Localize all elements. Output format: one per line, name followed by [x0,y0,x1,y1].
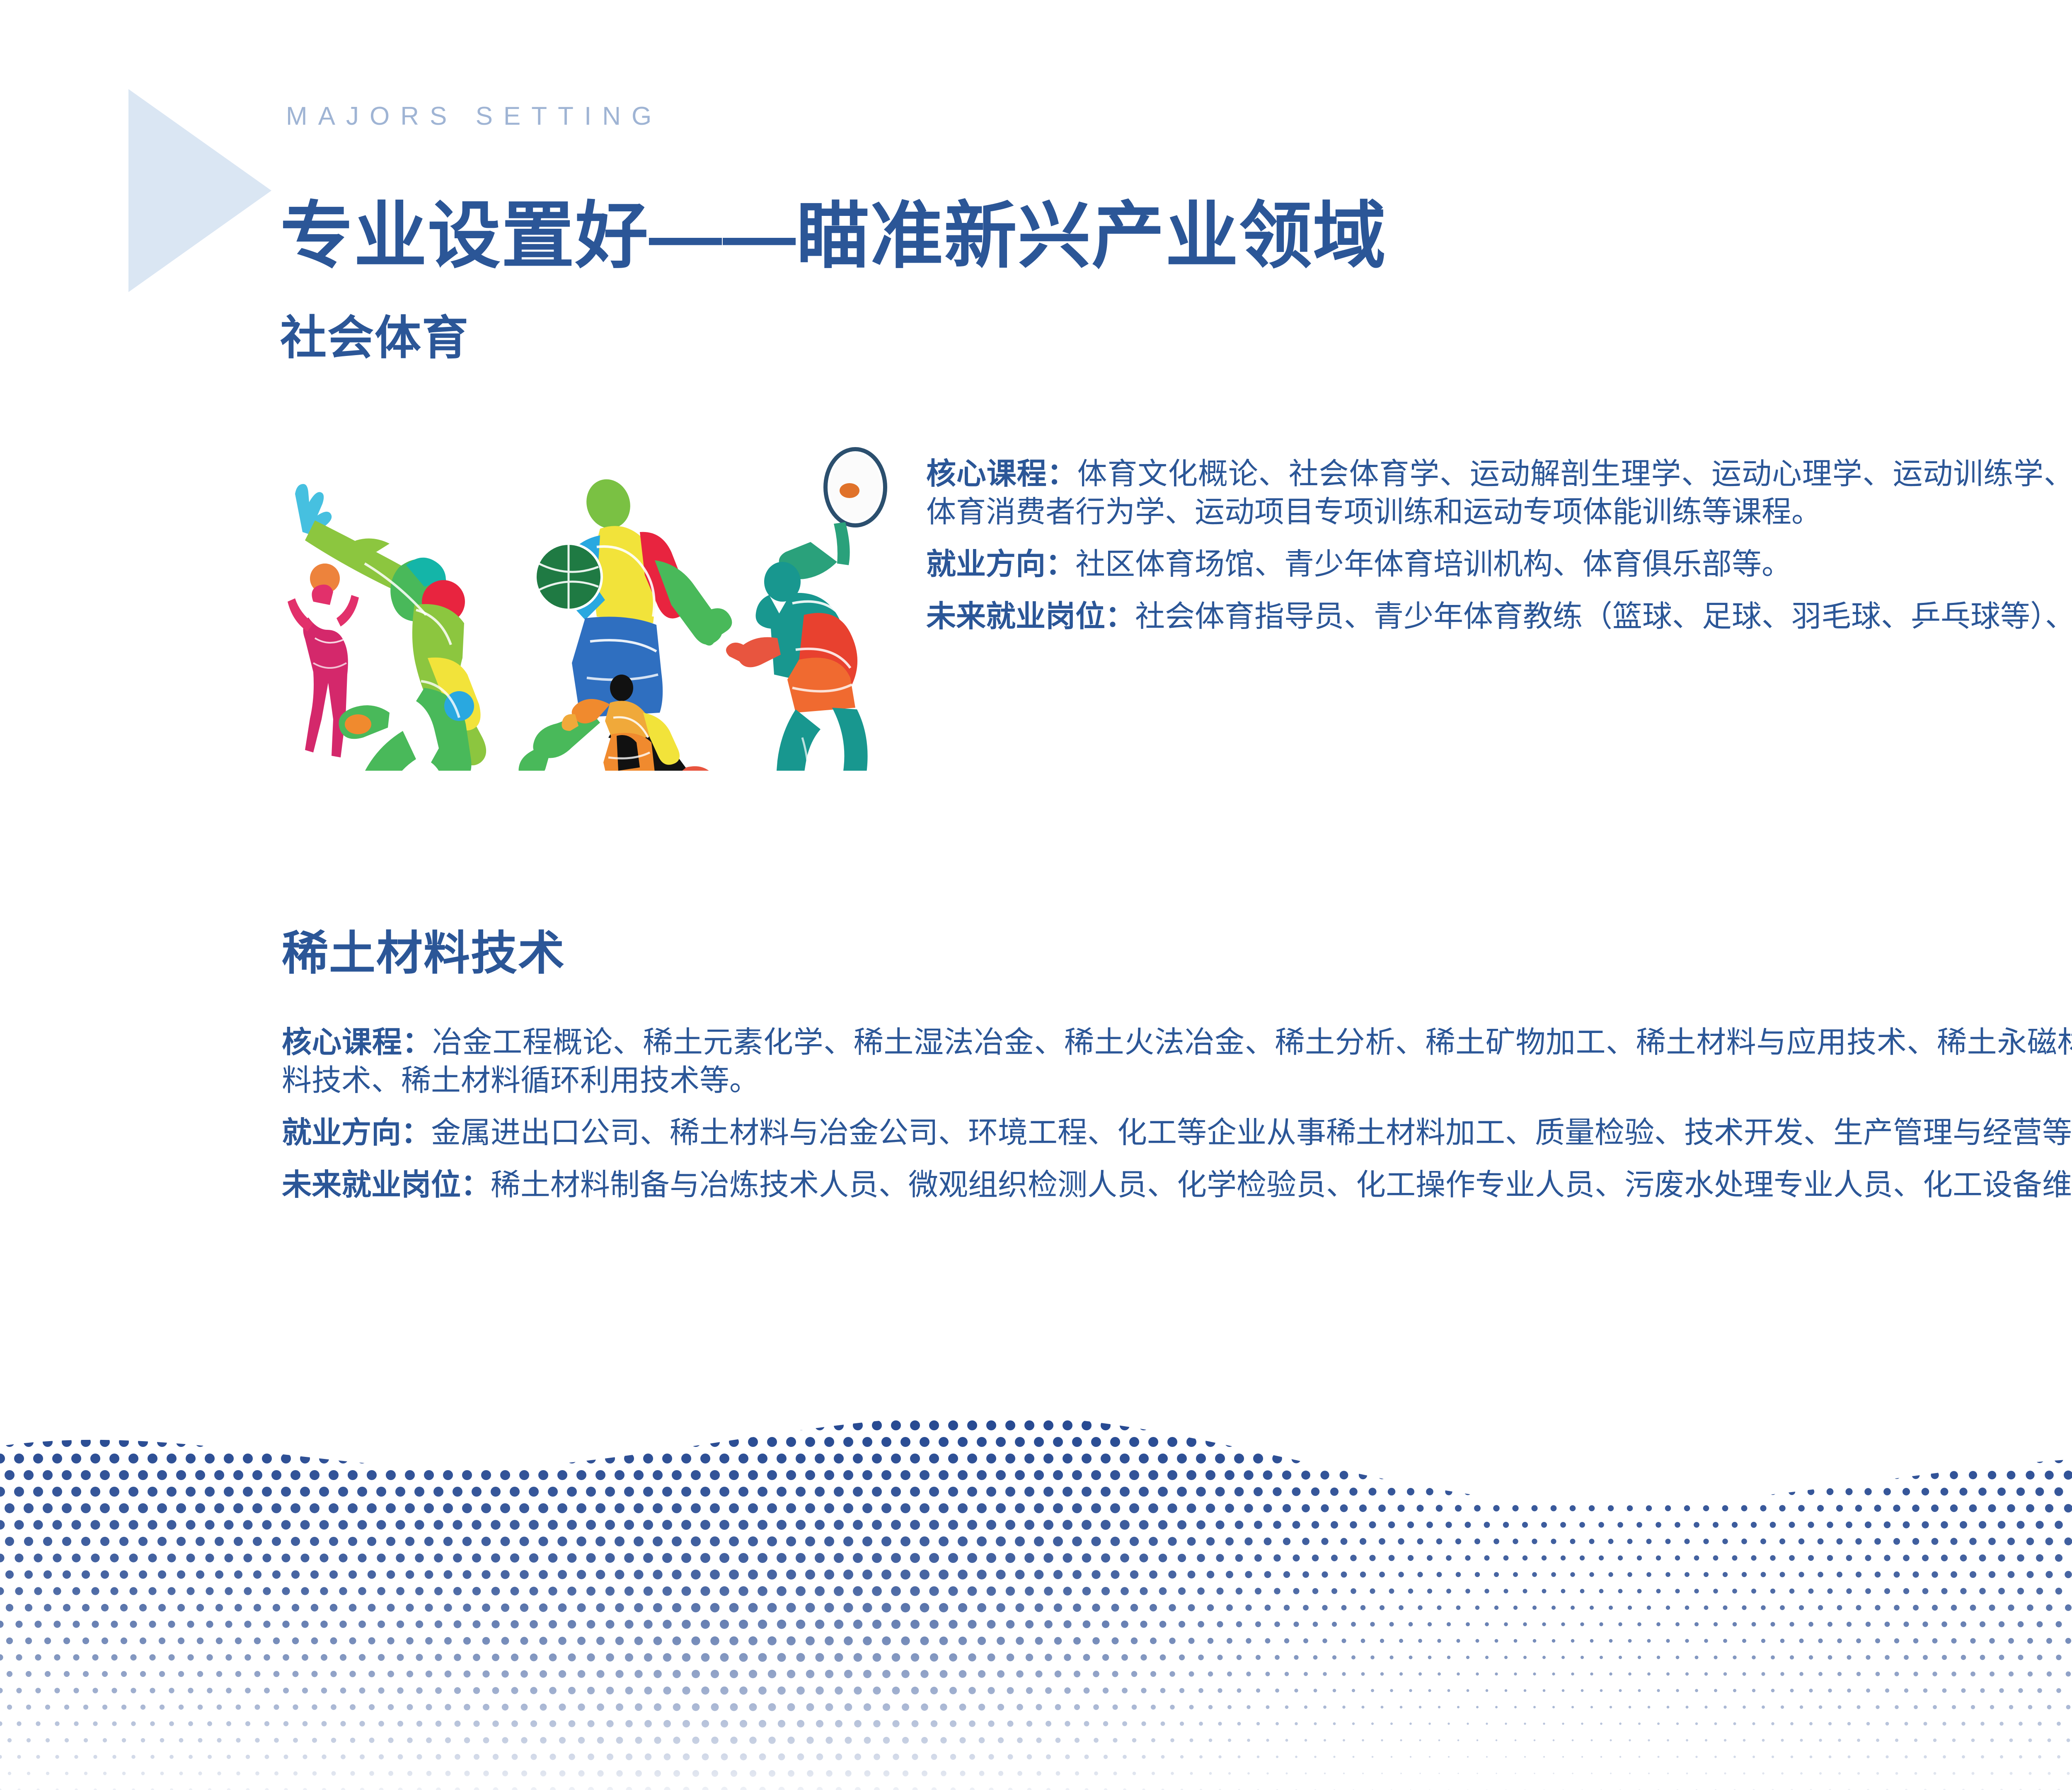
re-future-jobs-label: 未来就业岗位： [282,1168,491,1202]
re-future-jobs-paragraph: 未来就业岗位：稀土材料制备与冶炼技术人员、微观组织检测人员、化学检验员、化工操作… [282,1166,2072,1204]
re-employment-direction-label: 就业方向： [282,1116,431,1149]
sports-core-courses-text: 体育文化概论、社会体育学、运动解剖生理学、运动心理学、运动训练学、运动损伤与防护… [926,457,2072,529]
slide-root: MAJORS SETTING 专业设置好——瞄准新兴产业领域 社会体育 [0,0,2072,1790]
sports-employment-direction-label: 就业方向： [926,548,1075,581]
re-future-jobs-text: 稀土材料制备与冶炼技术人员、微观组织检测人员、化学检验员、化工操作专业人员、污废… [491,1168,2072,1202]
sports-employment-direction-paragraph: 就业方向：社区体育场馆、青少年体育培训机构、体育俱乐部等。 [926,545,2072,583]
major-name-rare-earth: 稀土材料技术 [282,930,565,977]
sports-core-courses-label: 核心课程： [926,457,1077,491]
eyebrow-label: MAJORS SETTING [286,102,662,131]
sports-text-block: 核心课程：体育文化概论、社会体育学、运动解剖生理学、运动心理学、运动训练学、运动… [926,455,2072,636]
re-core-courses-paragraph: 核心课程：冶金工程概论、稀土元素化学、稀土湿法冶金、稀土火法冶金、稀土分析、稀土… [282,1023,2072,1100]
sports-future-jobs-text: 社会体育指导员、青少年体育教练（篮球、足球、羽毛球、乒乓球等）、体育俱乐部教练、… [1135,600,2072,633]
sports-illustration [265,439,920,771]
re-core-courses-label: 核心课程： [282,1026,432,1059]
re-employment-direction-text: 金属进出口公司、稀土材料与冶金公司、环境工程、化工等企业从事稀土材料加工、质量检… [431,1116,2072,1149]
sports-future-jobs-label: 未来就业岗位： [926,600,1135,633]
page-title: 专业设置好——瞄准新兴产业领域 [280,200,1387,273]
sports-future-jobs-paragraph: 未来就业岗位：社会体育指导员、青少年体育教练（篮球、足球、羽毛球、乒乓球等）、体… [926,597,2072,636]
major-name-sports: 社会体育 [280,315,469,361]
athlete-footballer [295,484,486,771]
play-triangle-icon [128,89,271,292]
rare-earth-text-block: 核心课程：冶金工程概论、稀土元素化学、稀土湿法冶金、稀土火法冶金、稀土分析、稀土… [282,1023,2072,1205]
re-core-courses-text: 冶金工程概论、稀土元素化学、稀土湿法冶金、稀土火法冶金、稀土分析、稀土矿物加工、… [282,1026,2072,1097]
sports-core-courses-paragraph: 核心课程：体育文化概论、社会体育学、运动解剖生理学、运动心理学、运动训练学、运动… [926,455,2072,531]
halftone-wave-decoration [0,1392,2072,1790]
sports-employment-direction-text: 社区体育场馆、青少年体育培训机构、体育俱乐部等。 [1075,548,1791,581]
re-employment-direction-paragraph: 就业方向：金属进出口公司、稀土材料与冶金公司、环境工程、化工等企业从事稀土材料加… [282,1114,2072,1152]
athlete-tennis [726,449,885,771]
